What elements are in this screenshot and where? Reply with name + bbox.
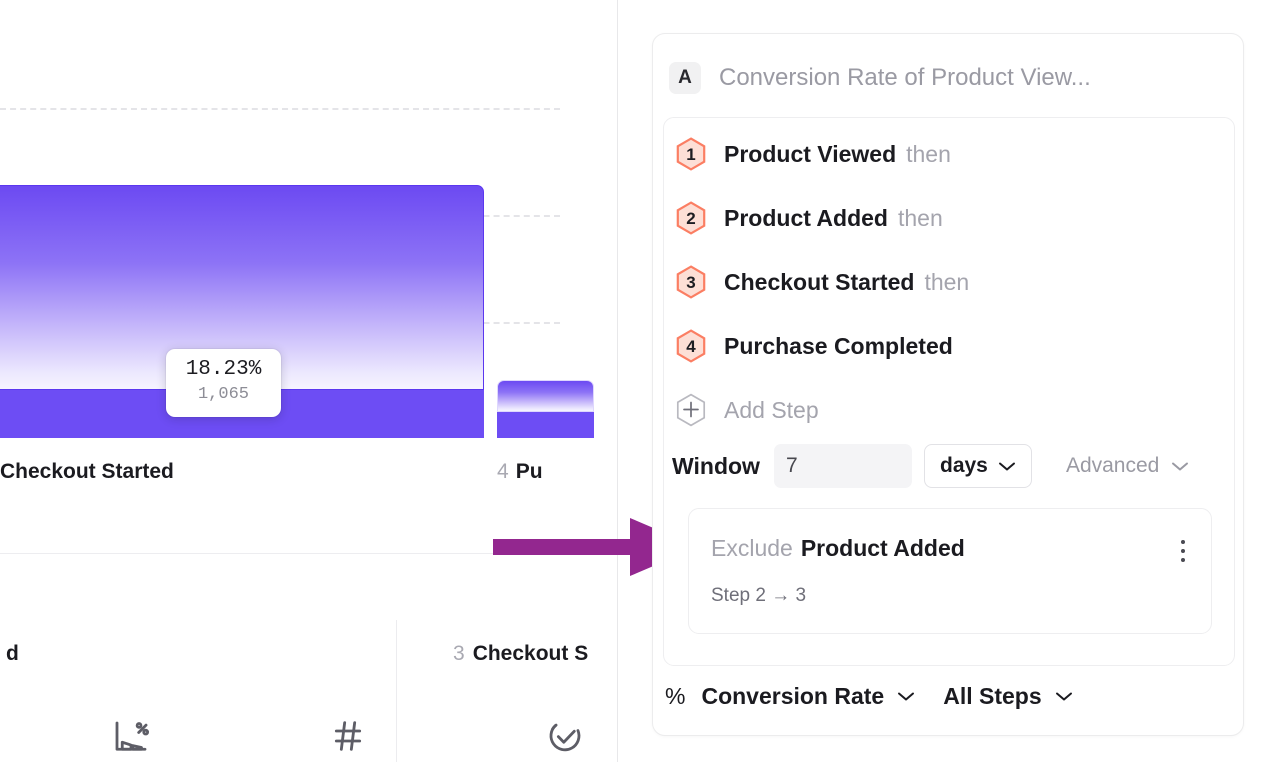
add-step-label: Add Step bbox=[724, 397, 819, 424]
exclusion-step-range: Step 2 → 3 bbox=[711, 585, 806, 607]
step-card-divider bbox=[396, 620, 397, 762]
panel-header: A Conversion Rate of Product View... bbox=[653, 34, 1243, 121]
step-number-hex-icon: 3 bbox=[676, 265, 706, 299]
funnel-builder-panel: A Conversion Rate of Product View... 1 P… bbox=[652, 33, 1244, 736]
chart-plot-area: 18.23% 1,065 bbox=[0, 0, 617, 438]
step-card-product-added[interactable]: d bbox=[0, 554, 395, 762]
exclusion-event-name: Product Added bbox=[801, 535, 965, 561]
step-number: 2 bbox=[686, 210, 695, 227]
chevron-down-icon bbox=[998, 461, 1016, 472]
chevron-down-icon bbox=[897, 691, 915, 702]
window-value-input[interactable] bbox=[774, 444, 912, 488]
add-step-button[interactable]: Add Step bbox=[676, 390, 819, 430]
step-event-name: Product Viewed bbox=[724, 141, 896, 168]
chevron-down-icon bbox=[1055, 691, 1073, 702]
tooltip-percent: 18.23% bbox=[166, 357, 281, 383]
scope-select[interactable]: All Steps bbox=[943, 683, 1072, 710]
dot bbox=[1181, 558, 1185, 562]
step-card-text: d bbox=[6, 642, 19, 665]
exclusion-lead-label: Exclude bbox=[711, 535, 793, 561]
step-number-hex-icon: 1 bbox=[676, 137, 706, 171]
step-number: 1 bbox=[686, 146, 695, 163]
panel-footer: % Conversion Rate All Steps bbox=[665, 672, 1101, 720]
exclusion-step-card[interactable]: ExcludeProduct Added Step 2 → 3 bbox=[688, 508, 1212, 634]
funnel-chart-region: 18.23% 1,065 Checkout Started 4Pu d bbox=[0, 0, 617, 762]
step-cards-row: d 3Checkout S bbox=[0, 554, 617, 762]
step-number: 4 bbox=[686, 338, 695, 355]
hash-icon[interactable] bbox=[328, 716, 368, 756]
x-axis-step-number: 4 bbox=[497, 460, 509, 483]
plus-hex-icon bbox=[676, 393, 706, 427]
funnel-bar-purchase-completed[interactable] bbox=[497, 380, 594, 438]
step-event-name: Purchase Completed bbox=[724, 333, 953, 360]
step-number: 3 bbox=[686, 274, 695, 291]
funnel-bar-gradient bbox=[497, 380, 594, 412]
overflow-menu-icon[interactable] bbox=[1169, 535, 1197, 567]
x-axis-step-text: Checkout Started bbox=[0, 460, 174, 483]
funnel-step-2[interactable]: 2 Product Added then bbox=[676, 198, 943, 238]
chevron-down-icon bbox=[1171, 461, 1189, 472]
window-label: Window bbox=[672, 453, 760, 480]
window-unit-label: days bbox=[940, 454, 988, 478]
step-card-text: Checkout S bbox=[473, 642, 589, 665]
funnel-steps-card: 1 Product Viewed then 2 Product Added th… bbox=[663, 117, 1235, 666]
funnel-step-1[interactable]: 1 Product Viewed then bbox=[676, 134, 951, 174]
step-event-name: Checkout Started bbox=[724, 269, 914, 296]
step-number-hex-icon: 2 bbox=[676, 201, 706, 235]
step-connector: then bbox=[924, 269, 969, 296]
percent-icon: % bbox=[665, 683, 685, 710]
step-event-name: Product Added bbox=[724, 205, 888, 232]
step-card-title: d bbox=[0, 642, 19, 666]
x-axis-step-text: Pu bbox=[516, 460, 543, 483]
exclusion-title: ExcludeProduct Added bbox=[711, 535, 965, 562]
funnel-bar-base bbox=[497, 412, 594, 438]
tooltip-count: 1,065 bbox=[166, 383, 281, 407]
window-unit-select[interactable]: days bbox=[924, 444, 1032, 488]
x-axis-label-step-4: 4Pu bbox=[497, 460, 543, 484]
funnel-step-3[interactable]: 3 Checkout Started then bbox=[676, 262, 969, 302]
funnel-percent-icon[interactable] bbox=[110, 716, 152, 758]
dot bbox=[1181, 549, 1185, 553]
step-connector: then bbox=[898, 205, 943, 232]
step-card-title: 3Checkout S bbox=[453, 642, 588, 666]
advanced-label: Advanced bbox=[1066, 454, 1159, 478]
panel-title[interactable]: Conversion Rate of Product View... bbox=[719, 62, 1091, 94]
step-number-hex-icon: 4 bbox=[676, 329, 706, 363]
metric-select[interactable]: Conversion Rate bbox=[701, 683, 915, 710]
vertical-divider bbox=[617, 0, 618, 762]
gridline-top bbox=[0, 108, 560, 110]
metric-label: Conversion Rate bbox=[701, 683, 884, 710]
advanced-toggle[interactable]: Advanced bbox=[1066, 444, 1189, 488]
step-connector: then bbox=[906, 141, 951, 168]
dot bbox=[1181, 540, 1185, 544]
step-card-number: 3 bbox=[453, 642, 465, 665]
conversion-window-row: Window days Advanced bbox=[672, 440, 1232, 492]
step-card-checkout-started[interactable]: 3Checkout S bbox=[396, 554, 617, 762]
panel-letter-badge: A bbox=[669, 62, 701, 94]
funnel-step-4[interactable]: 4 Purchase Completed bbox=[676, 326, 963, 366]
scope-label: All Steps bbox=[943, 683, 1041, 710]
chart-tooltip: 18.23% 1,065 bbox=[166, 349, 281, 417]
x-axis-label-step-3: Checkout Started bbox=[0, 460, 174, 484]
conversion-target-icon[interactable] bbox=[544, 716, 586, 758]
